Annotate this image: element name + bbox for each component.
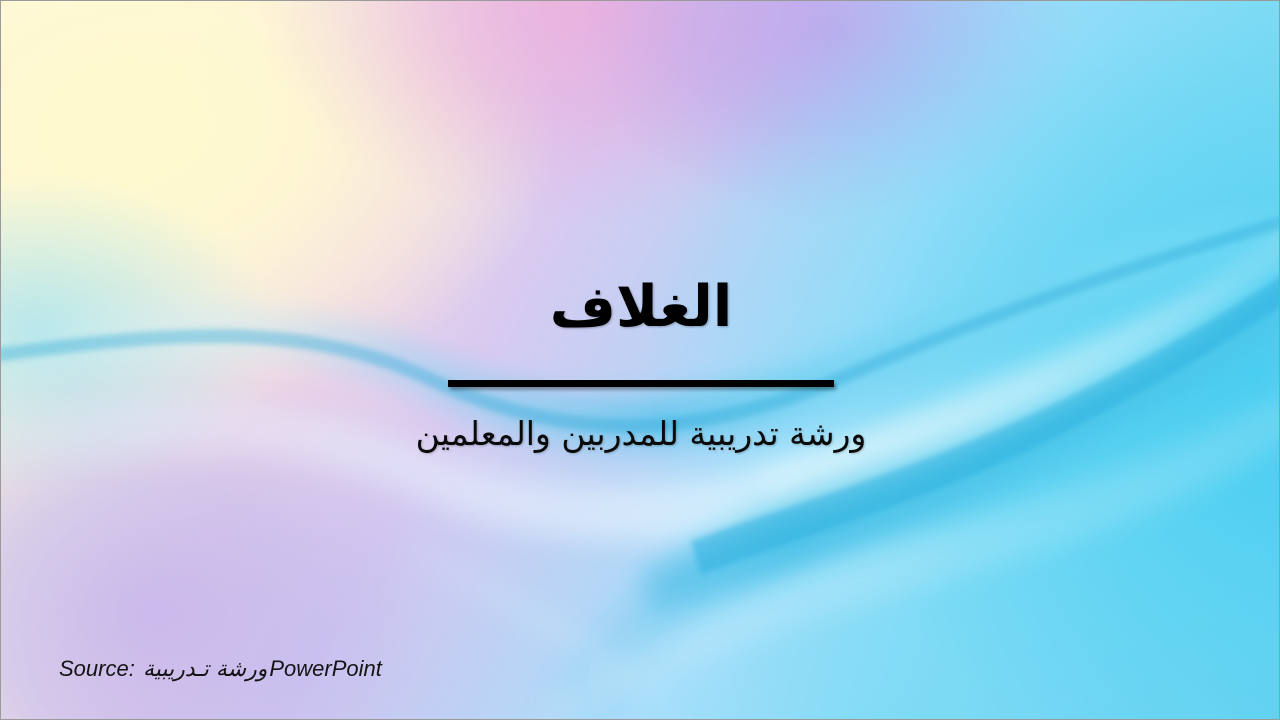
- background-wave-ribbons: [1, 1, 1280, 720]
- title-divider-wrap: [1, 374, 1280, 392]
- title-block: الغلاف: [1, 277, 1280, 339]
- presentation-slide: الغلاف ورشة تدريبية للمدربين والمعلمين S…: [0, 0, 1280, 720]
- slide-subtitle[interactable]: ورشة تدريبية للمدربين والمعلمين: [1, 413, 1280, 454]
- source-arabic-name: ورشة تـدريبية: [141, 657, 269, 682]
- title-divider-rule: [448, 380, 834, 387]
- source-caption: Source: ورشة تـدريبيةPowerPoint: [59, 656, 382, 682]
- source-app-name: PowerPoint: [269, 656, 382, 681]
- subtitle-block: ورشة تدريبية للمدربين والمعلمين: [1, 413, 1280, 454]
- slide-title[interactable]: الغلاف: [1, 277, 1280, 339]
- source-label: Source:: [59, 656, 135, 681]
